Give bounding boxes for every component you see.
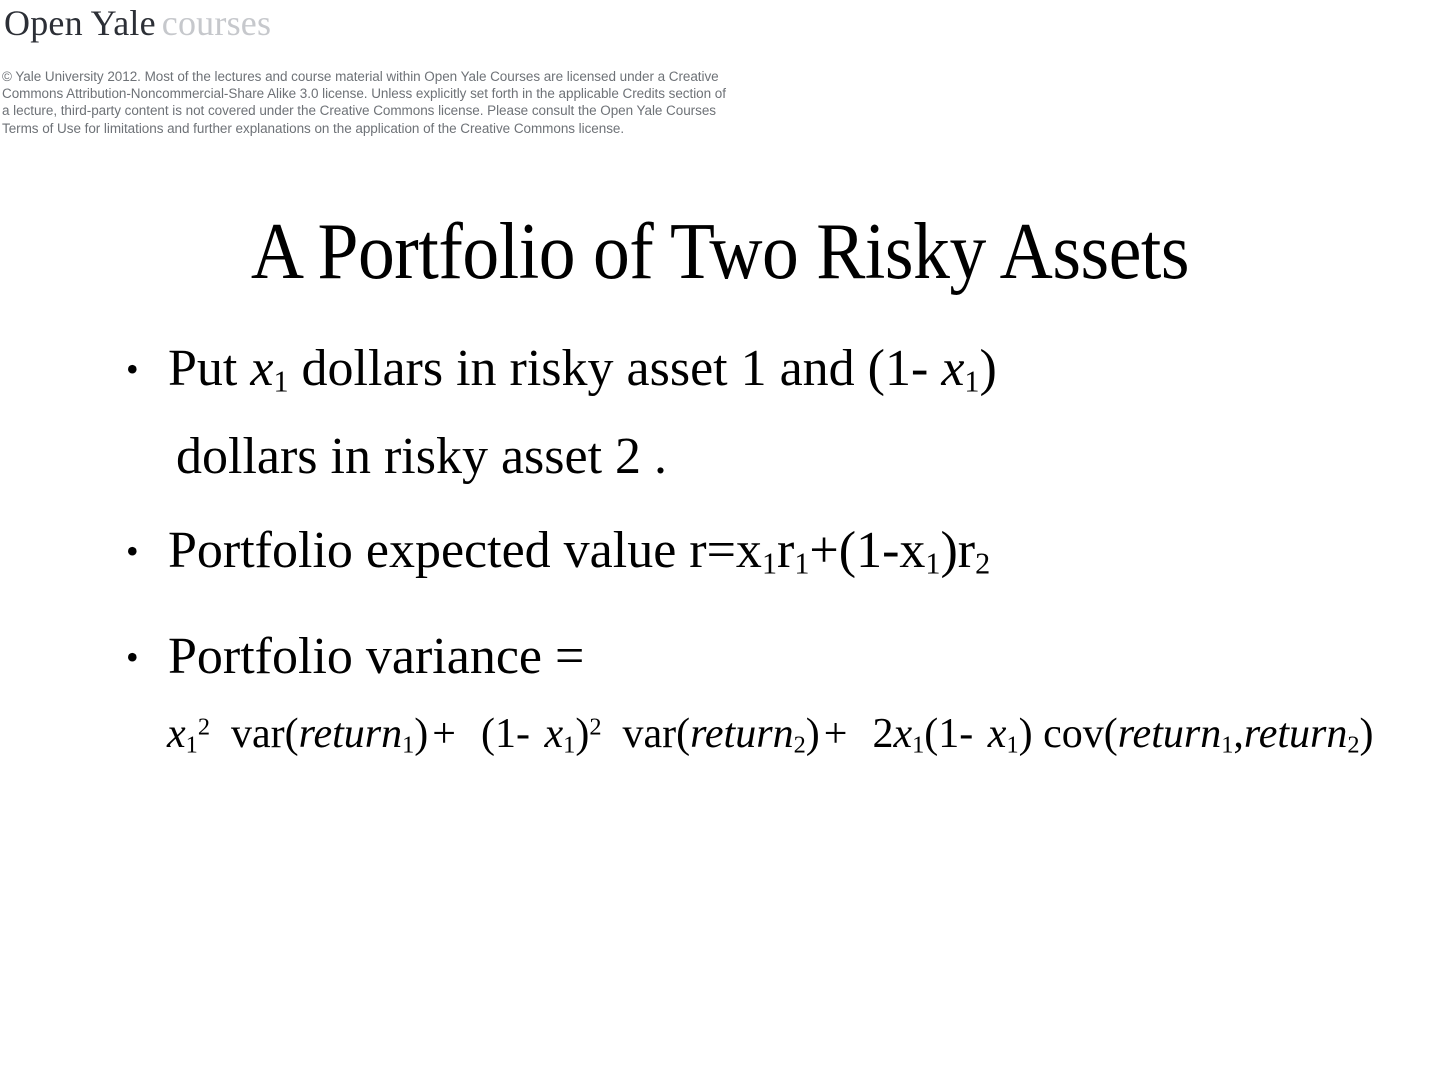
slide-body: • Put x1 dollars in risky asset 1 and (1…	[118, 325, 1418, 701]
formula-return2-word: return	[690, 711, 793, 757]
formula-return1-subscript: 1	[402, 731, 414, 758]
open-yale-courses-logo: Open Yalecourses	[0, 0, 760, 44]
formula-cov-return2-word: return	[1244, 711, 1347, 757]
formula-plus-1: +	[428, 711, 460, 757]
formula-one-minus-x1-group: (1- x1)	[470, 711, 589, 757]
formula-x1-third-subscript: 1	[912, 731, 924, 758]
bullet-text-put-dollars: Put x1 dollars in risky asset 1 and (1- …	[168, 325, 1418, 413]
formula-x1-third: x	[893, 711, 912, 757]
bullet1-segment-b: dollars in risky asset 1 and (1-	[289, 340, 942, 397]
formula-x1-exponent: 2	[198, 713, 210, 740]
bullet1-variable-x1: x	[250, 340, 273, 397]
bullet1-variable-x1-second-subscript: 1	[964, 365, 979, 399]
formula-cov: cov(return1,return2)	[1043, 711, 1373, 757]
bullet-item-variance: • Portfolio variance =	[118, 613, 1418, 701]
bullet-item-put-dollars: • Put x1 dollars in risky asset 1 and (1…	[118, 325, 1418, 413]
formula-x1-second: x	[544, 711, 563, 757]
formula-group-exponent: 2	[589, 713, 601, 740]
bullet2-x1b-sub: 1	[925, 547, 940, 581]
bullet2-r1-sub: 1	[794, 547, 809, 581]
formula-cross-term: 2x1(1- x1)	[862, 711, 1033, 757]
formula-cov-return1-word: return	[1118, 711, 1221, 757]
bullet1-segment-c: )	[980, 340, 997, 397]
bullet-marker-icon: •	[118, 325, 168, 413]
logo-courses-text: courses	[156, 3, 271, 43]
slide-title: A Portfolio of Two Risky Assets	[58, 206, 1383, 298]
bullet1-variable-x1-subscript: 1	[273, 365, 288, 399]
bullet-text-variance: Portfolio variance =	[168, 613, 1418, 701]
bullet2-equation: r=x1r1+(1-x1)r2	[689, 522, 990, 579]
open-yale-courses-header: Open Yalecourses	[0, 0, 760, 44]
bullet-marker-icon: •	[118, 507, 168, 595]
bullet2-x1-sub: 1	[762, 547, 777, 581]
bullet1-segment-a: Put	[168, 340, 250, 397]
bullet-text-expected-value: Portfolio expected value r=x1r1+(1-x1)r2	[168, 507, 1418, 595]
formula-x1-term: x	[167, 711, 186, 757]
formula-x1-second-subscript: 1	[563, 731, 575, 758]
formula-return1-word: return	[299, 711, 402, 757]
bullet2-r2-sub: 2	[975, 547, 990, 581]
license-notice: © Yale University 2012. Most of the lect…	[2, 68, 732, 137]
variance-formula: x12 var(return1)+ (1- x1)2 var(return2)+…	[167, 706, 1374, 762]
formula-var2: var(return2)	[612, 711, 820, 757]
bullet-text-put-dollars-line2: dollars in risky asset 2 .	[118, 413, 1418, 501]
bullet-marker-icon: •	[118, 613, 168, 701]
formula-return2-subscript: 2	[794, 731, 806, 758]
logo-open-yale-text: Open Yale	[4, 3, 156, 43]
formula-x1-fourth-subscript: 1	[1006, 731, 1018, 758]
bullet2-label: Portfolio expected value	[168, 522, 689, 579]
formula-cov-return1-subscript: 1	[1221, 731, 1233, 758]
formula-x1-fourth: x	[988, 711, 1007, 757]
formula-plus-2: +	[820, 711, 852, 757]
bullet-item-expected-value: • Portfolio expected value r=x1r1+(1-x1)…	[118, 507, 1418, 595]
formula-x1-subscript: 1	[186, 731, 198, 758]
formula-var1: var(return1)	[221, 711, 429, 757]
formula-cov-return2-subscript: 2	[1347, 731, 1359, 758]
bullet1-variable-x1-second: x	[941, 340, 964, 397]
